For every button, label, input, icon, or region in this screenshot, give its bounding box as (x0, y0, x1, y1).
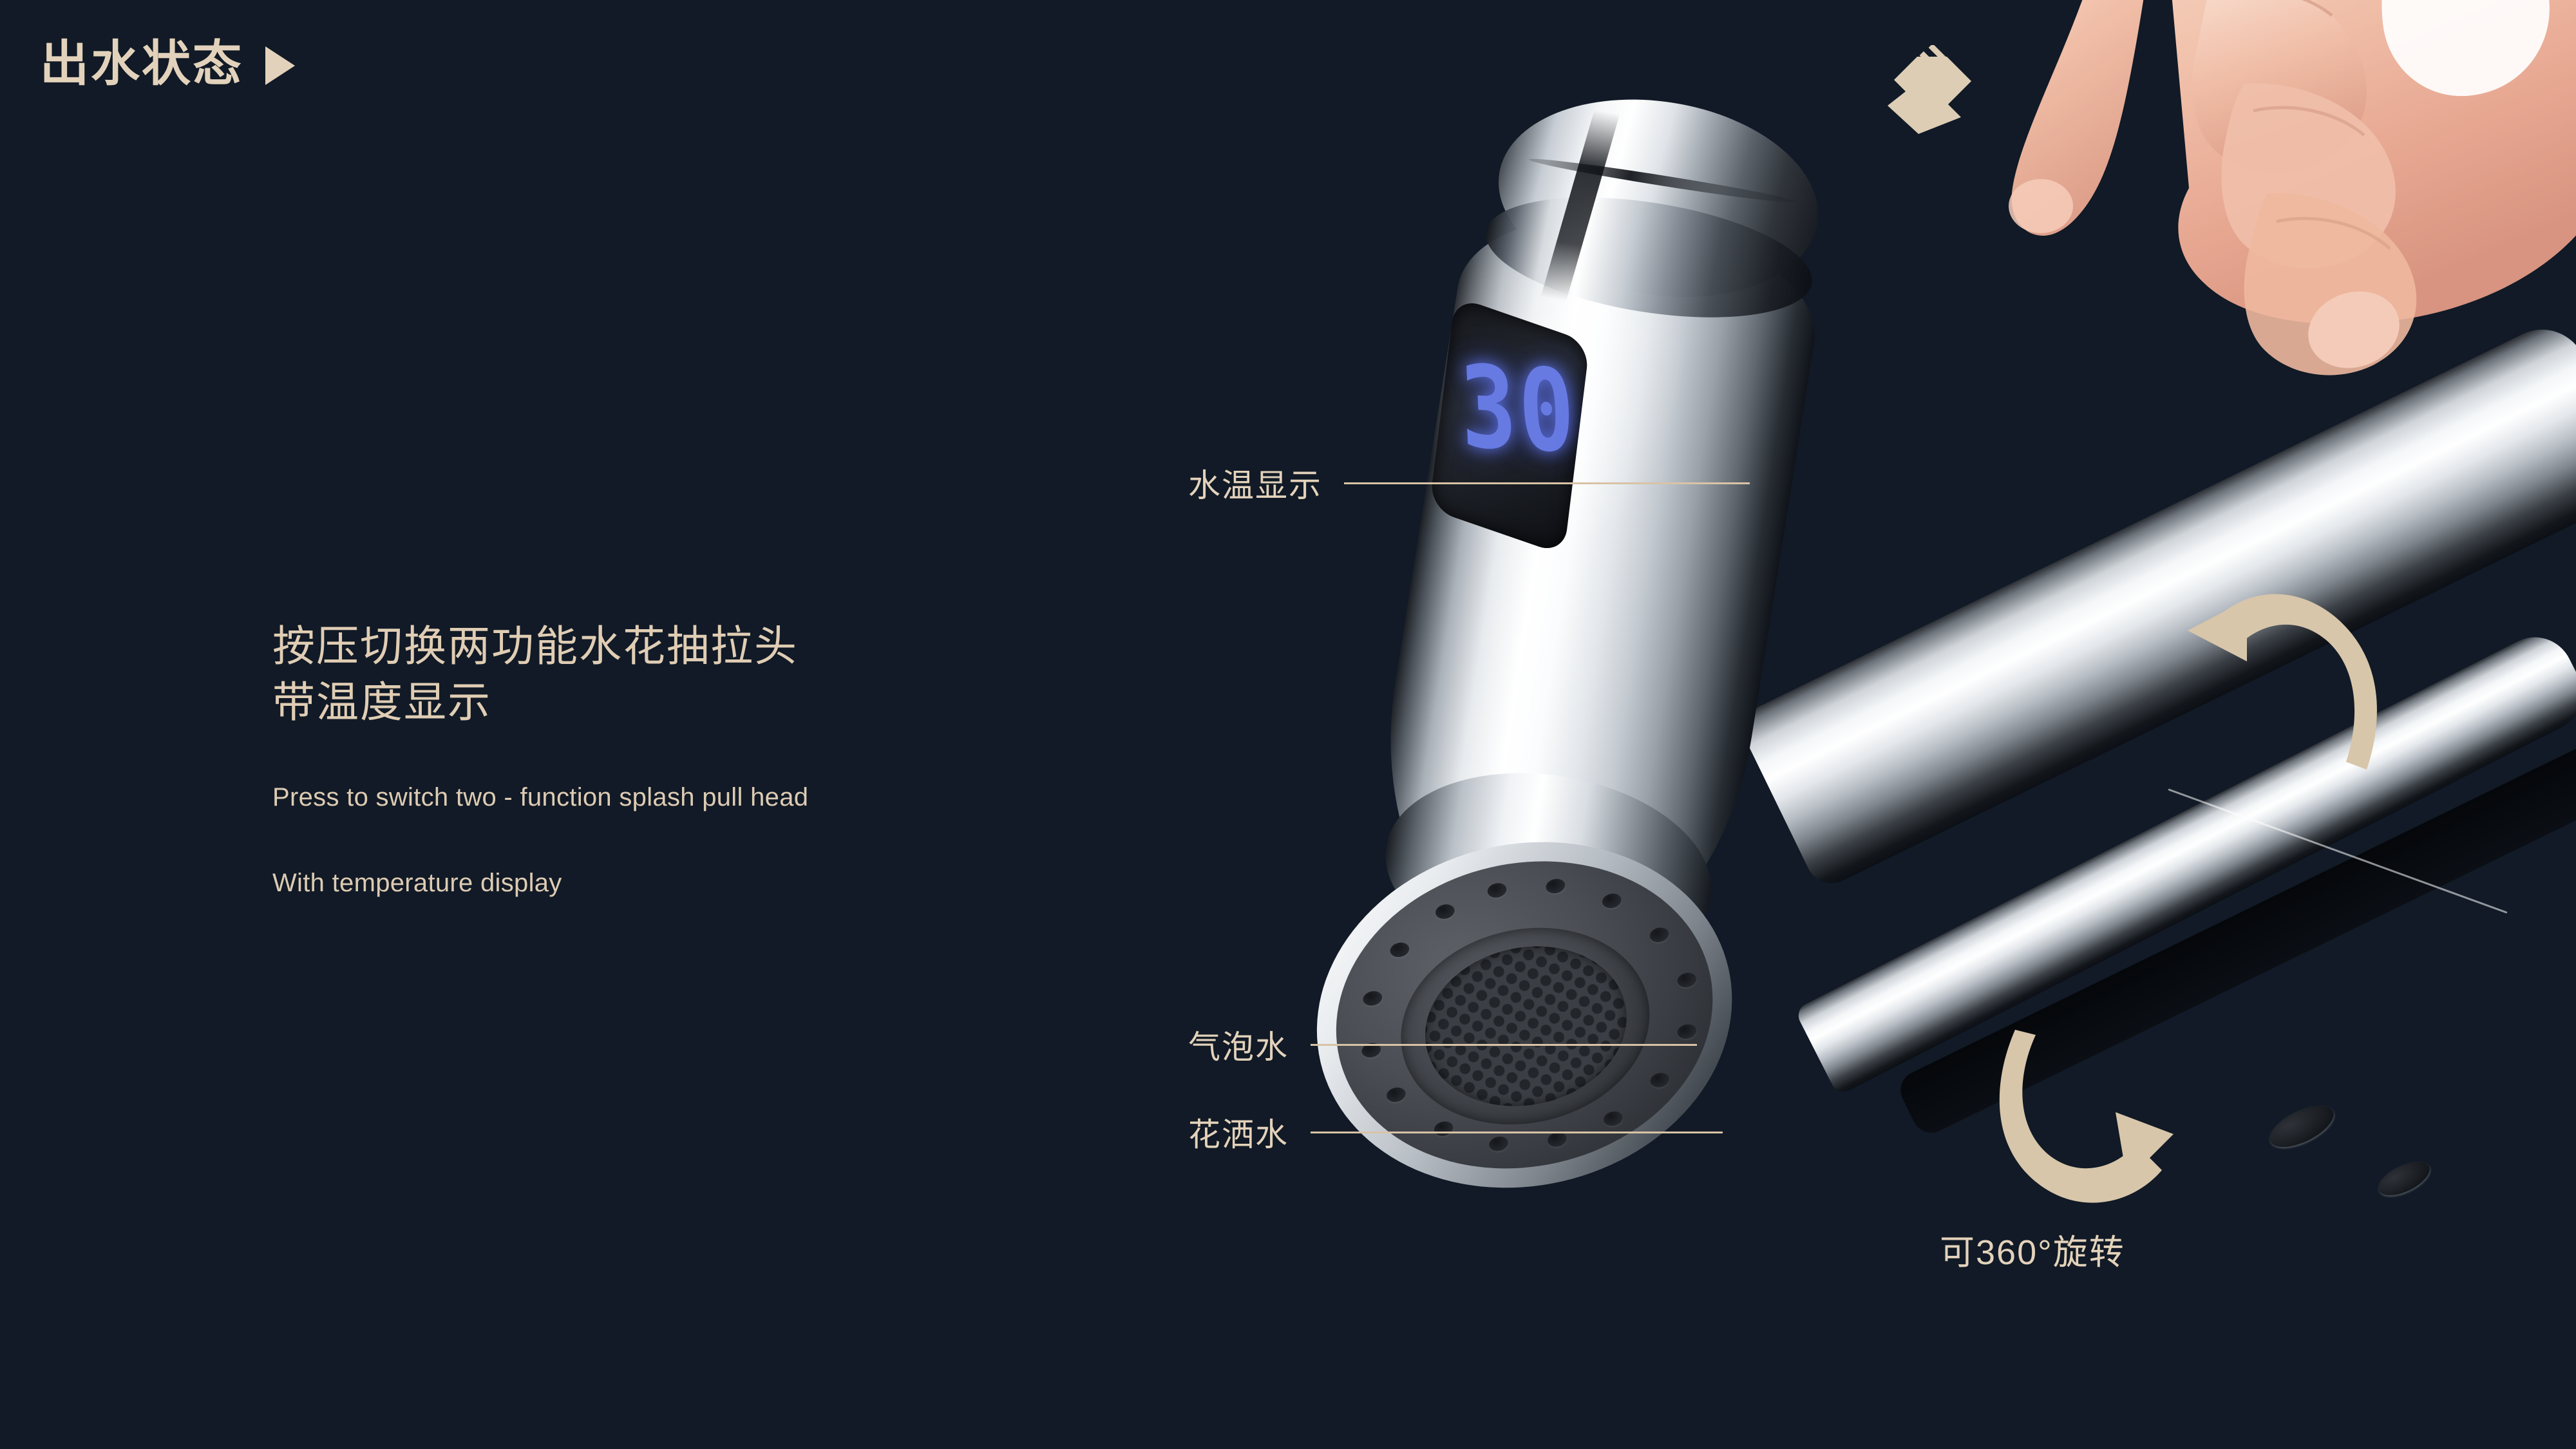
subhead-en-line1: Press to switch two - function splash pu… (272, 779, 808, 816)
led-temperature-reading: 30 (1458, 351, 1579, 469)
callout-aerated-water: 气泡水 (1188, 1021, 1697, 1068)
rotate-arrow-top-icon (2173, 576, 2392, 789)
shower-hole (1486, 881, 1508, 899)
leader-line (1344, 482, 1750, 484)
play-triangle-icon (265, 46, 295, 85)
shower-hole (1361, 989, 1383, 1007)
shower-hole (1676, 971, 1698, 989)
rotate-arrow-bottom-icon (1987, 1001, 2231, 1214)
headline-cn-line2: 带温度显示 (272, 674, 808, 730)
slide-header: 出水状态 (40, 40, 295, 89)
callout-temperature-display: 水温显示 (1188, 460, 1750, 506)
spout-button-detail-1 (2264, 1097, 2340, 1155)
shower-hole (1544, 877, 1566, 895)
callout-label: 气泡水 (1188, 1021, 1289, 1068)
hand-pressing-illustration (1967, 0, 2576, 399)
shower-hole (1649, 1071, 1671, 1089)
headline-cn-line1: 按压切换两功能水花抽拉头 (272, 618, 808, 674)
shower-hole (1648, 926, 1670, 944)
shower-hole (1434, 902, 1456, 920)
callout-shower-water: 花洒水 (1188, 1109, 1723, 1155)
shower-hole (1385, 1086, 1407, 1104)
feature-copy-block: 按压切换两功能水花抽拉头 带温度显示 Press to switch two -… (272, 618, 808, 902)
product-feature-slide: 30 (0, 0, 2576, 1449)
shower-hole (1388, 941, 1410, 959)
shower-hole (1601, 892, 1623, 910)
spout-button-detail-2 (2374, 1155, 2435, 1202)
led-temperature-panel: 30 (1429, 296, 1590, 555)
press-down-arrow-icon (1871, 45, 1987, 148)
subhead-en-line2: With temperature display (272, 865, 808, 902)
leader-line (1311, 1044, 1697, 1046)
callout-label: 花洒水 (1188, 1109, 1289, 1155)
page-title: 出水状态 (40, 40, 243, 89)
callout-label: 水温显示 (1188, 460, 1322, 506)
leader-line (1311, 1132, 1723, 1133)
rotation-label: 可360°旋转 (1940, 1224, 2125, 1274)
